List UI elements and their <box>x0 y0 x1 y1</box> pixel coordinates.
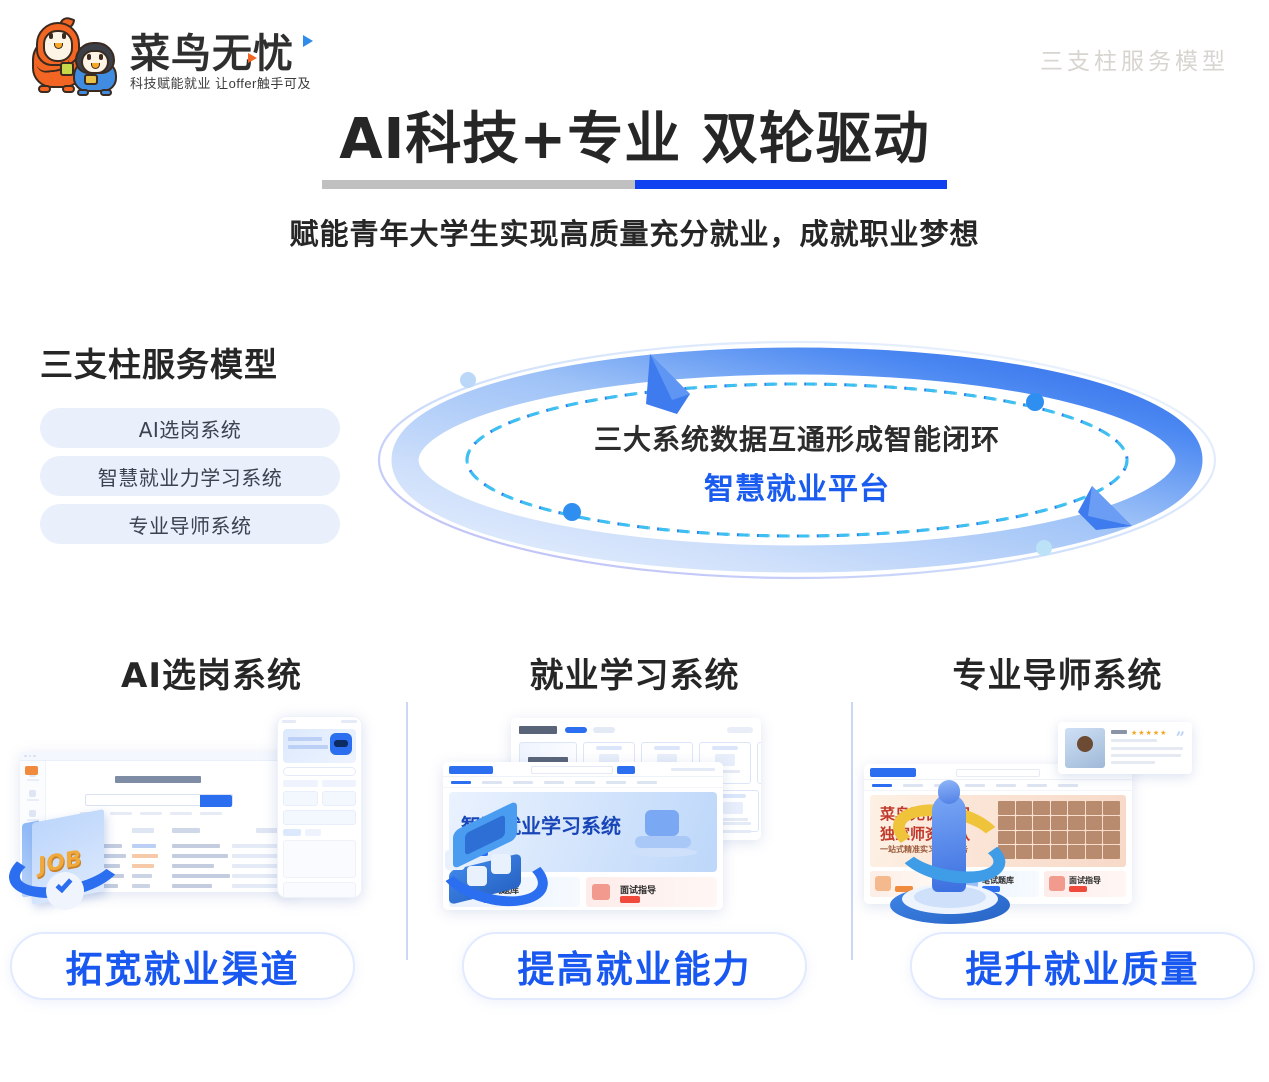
brand-tagline: 科技赋能就业 让offer触手可及 <box>130 73 311 92</box>
watermark-label: 三支柱服务模型 <box>1040 42 1229 76</box>
mock-titlebar <box>20 752 295 761</box>
mock-logo-icon <box>25 766 38 775</box>
mock-row-cell <box>172 884 212 888</box>
job-badge-3d-icon: JOB <box>8 806 128 916</box>
outcome-cards: 拓宽就业渠道 提高就业能力 提升就业质量 <box>0 932 1269 1004</box>
mock-card-interview-guide[interactable]: 面试指导 <box>586 877 717 907</box>
phone-list-item[interactable] <box>283 882 356 898</box>
robot-mascot-icon <box>330 733 352 755</box>
phone-hero-banner <box>283 729 356 763</box>
column-heading-mentor: 专业导师系统 <box>846 648 1269 697</box>
closed-loop-diagram: 三大系统数据互通形成智能闭环 智慧就业平台 <box>372 330 1222 590</box>
mock-search-button[interactable] <box>200 795 232 807</box>
title-section: AI科技+专业 双轮驱动 赋能青年大学生实现高质量充分就业，成就职业梦想 <box>0 108 1269 253</box>
mock-topbar <box>443 762 723 777</box>
pillar-panel: 三支柱服务模型 AI选岗系统 智慧就业力学习系统 专业导师系统 <box>40 338 340 552</box>
mock-more-link[interactable] <box>727 727 753 733</box>
loop-dot-upper-right <box>1026 393 1044 411</box>
mock-col-header-c <box>172 828 200 833</box>
mock-card-interview-guide[interactable]: 面试指导 <box>1044 871 1126 897</box>
mock-col-header-d <box>256 828 278 833</box>
mock-brand-logo <box>449 766 493 774</box>
mock-search-input[interactable] <box>85 794 233 806</box>
phone-list-item[interactable] <box>283 840 356 878</box>
title-bar-gray-segment <box>322 180 635 189</box>
interview-icon <box>592 884 610 900</box>
mock-row-cell <box>132 844 156 848</box>
page-subtitle: 赋能青年大学生实现高质量充分就业，成就职业梦想 <box>0 211 1269 253</box>
rating-stars-icon: ★★★★★ <box>1131 729 1167 737</box>
brand-logo[interactable]: 菜鸟无忧 科技赋能就业 让offer触手可及 <box>30 20 311 94</box>
loop-dot-lower-left <box>563 503 581 521</box>
pillar-heading: 三支柱服务模型 <box>40 338 340 386</box>
mock-navbar[interactable] <box>443 777 723 788</box>
brand-text: 菜鸟无忧 科技赋能就业 让offer触手可及 <box>130 33 311 94</box>
pillar-item-learning[interactable]: 智慧就业力学习系统 <box>40 456 340 496</box>
play-triangle-icon <box>303 35 313 47</box>
phone-statusbar <box>278 717 361 725</box>
phone-entry-cards[interactable] <box>283 791 356 806</box>
mock-search-input[interactable] <box>531 766 613 774</box>
mock-row-cell <box>132 884 150 888</box>
mock-card-title: 面试指导 <box>1069 875 1101 886</box>
outcome-card-broaden-channels[interactable]: 拓宽就业渠道 <box>10 932 355 1000</box>
mock-col-header-b <box>132 828 154 833</box>
outcome-card-improve-quality[interactable]: 提升就业质量 <box>910 932 1255 1000</box>
testimonial-card: ★★★★★ ” <box>1058 722 1192 774</box>
column-heading-learning: 就业学习系统 <box>423 648 846 697</box>
brand-name: 菜鸟无忧 <box>130 33 311 75</box>
column-headings: AI选岗系统 就业学习系统 专业导师系统 <box>0 648 1269 697</box>
mobile-mockup-job-system <box>277 716 362 898</box>
testimonial-name <box>1111 730 1127 734</box>
mock-panel-title <box>519 726 557 734</box>
hero-illustration-icon <box>627 806 703 862</box>
screenshot-row: JOB <box>0 710 1269 925</box>
phone-search-input[interactable] <box>283 767 356 776</box>
loop-ellipse-svg <box>372 330 1222 590</box>
page-title: AI科技+专业 双轮驱动 <box>0 108 1269 172</box>
mock-row-cell <box>172 874 230 878</box>
mascot-group <box>30 20 122 94</box>
mock-card-title: 面试指导 <box>620 883 656 896</box>
phone-stats-row <box>283 780 356 787</box>
mock-row-cell <box>132 864 154 868</box>
pillar-item-mentor[interactable]: 专业导师系统 <box>40 504 340 544</box>
cube-3d-icon <box>435 810 555 920</box>
screenshot-column-ai-job: JOB <box>0 710 423 925</box>
title-bar-blue-segment <box>635 180 948 189</box>
screenshot-column-learning: 智慧就业学习系统 AI 笔试题库 面试指导 <box>423 710 846 925</box>
mock-row-cell <box>172 854 228 858</box>
mock-row-cell <box>172 844 220 848</box>
phone-wide-card[interactable] <box>283 810 356 825</box>
mock-tab-active[interactable] <box>565 727 587 733</box>
loop-dot-upper-left <box>460 372 476 388</box>
quote-icon: ” <box>1176 728 1185 747</box>
mock-search-button[interactable] <box>617 766 635 774</box>
outcome-card-improve-ability[interactable]: 提高就业能力 <box>462 932 807 1000</box>
mock-site-title <box>115 776 201 783</box>
mock-row-cell <box>172 864 214 868</box>
screenshot-column-mentor: 菜鸟无忧求职 独家师资团队 一站式精准实习就业服务 笔试题库 <box>846 710 1269 925</box>
mock-tab[interactable] <box>593 727 615 733</box>
interview-icon <box>1049 876 1065 891</box>
avatar <box>1065 728 1105 768</box>
pillar-item-ai-job[interactable]: AI选岗系统 <box>40 408 340 448</box>
mock-row-cell <box>132 854 158 858</box>
mock-row-cell <box>132 874 152 878</box>
mentor-figure-3d-icon <box>874 772 1024 924</box>
phone-tabs[interactable] <box>283 829 356 836</box>
blue-bird-mascot-icon <box>72 42 120 94</box>
loop-dot-lower-right <box>1036 540 1052 556</box>
column-heading-ai-job: AI选岗系统 <box>0 648 423 697</box>
play-triangle-orange-icon <box>248 53 257 63</box>
title-underline-bar <box>322 180 947 189</box>
